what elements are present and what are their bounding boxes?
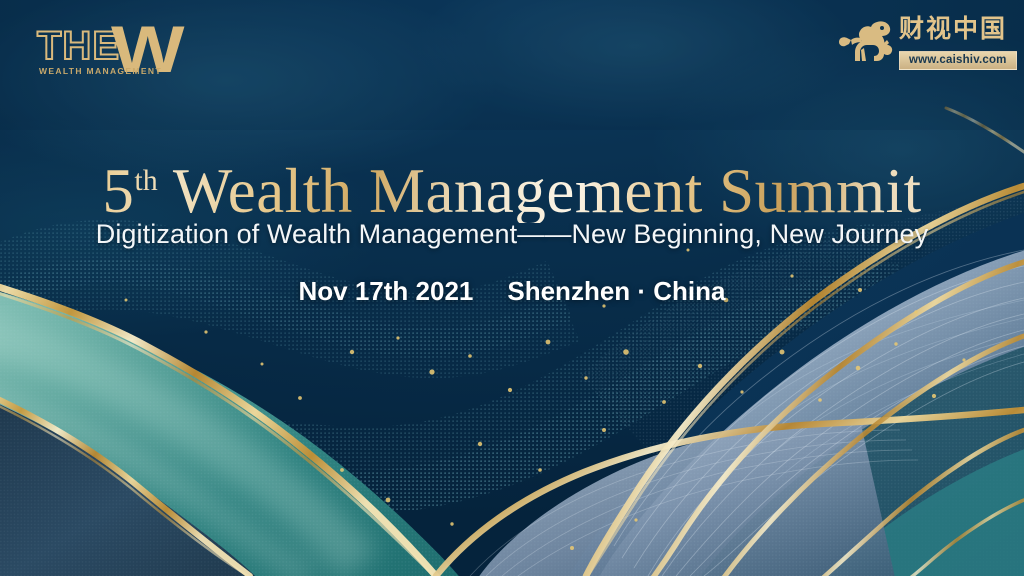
caishiv-chinese-name: 财视中国 (899, 16, 1007, 42)
the-w-logo[interactable]: THE W WEALTH MANAGEMENT (37, 20, 187, 78)
qilin-beast-icon (837, 16, 897, 66)
event-meta: Nov 17th 2021Shenzhen · China (0, 276, 1024, 307)
event-date: Nov 17th 2021 (299, 276, 474, 306)
edition-number: 5 (102, 156, 134, 226)
the-w-logo-tagline: WEALTH MANAGEMENT (39, 66, 162, 76)
page-title: 5th Wealth Management Summit (0, 160, 1024, 223)
the-w-logo-the-text: THE (37, 26, 120, 66)
event-location: Shenzhen · China (507, 276, 725, 306)
edition-suffix: th (134, 164, 157, 197)
page-subtitle: Digitization of Wealth Management——New B… (0, 219, 1024, 250)
caishiv-url[interactable]: www.caishiv.com (899, 51, 1017, 70)
title-main-text: Wealth Management Summit (173, 156, 922, 226)
caishiv-logo[interactable]: 财视中国 www.caishiv.com (837, 14, 1012, 76)
conference-key-visual: THE W WEALTH MANAGEMENT 财视中国 www.caishiv… (0, 0, 1024, 576)
